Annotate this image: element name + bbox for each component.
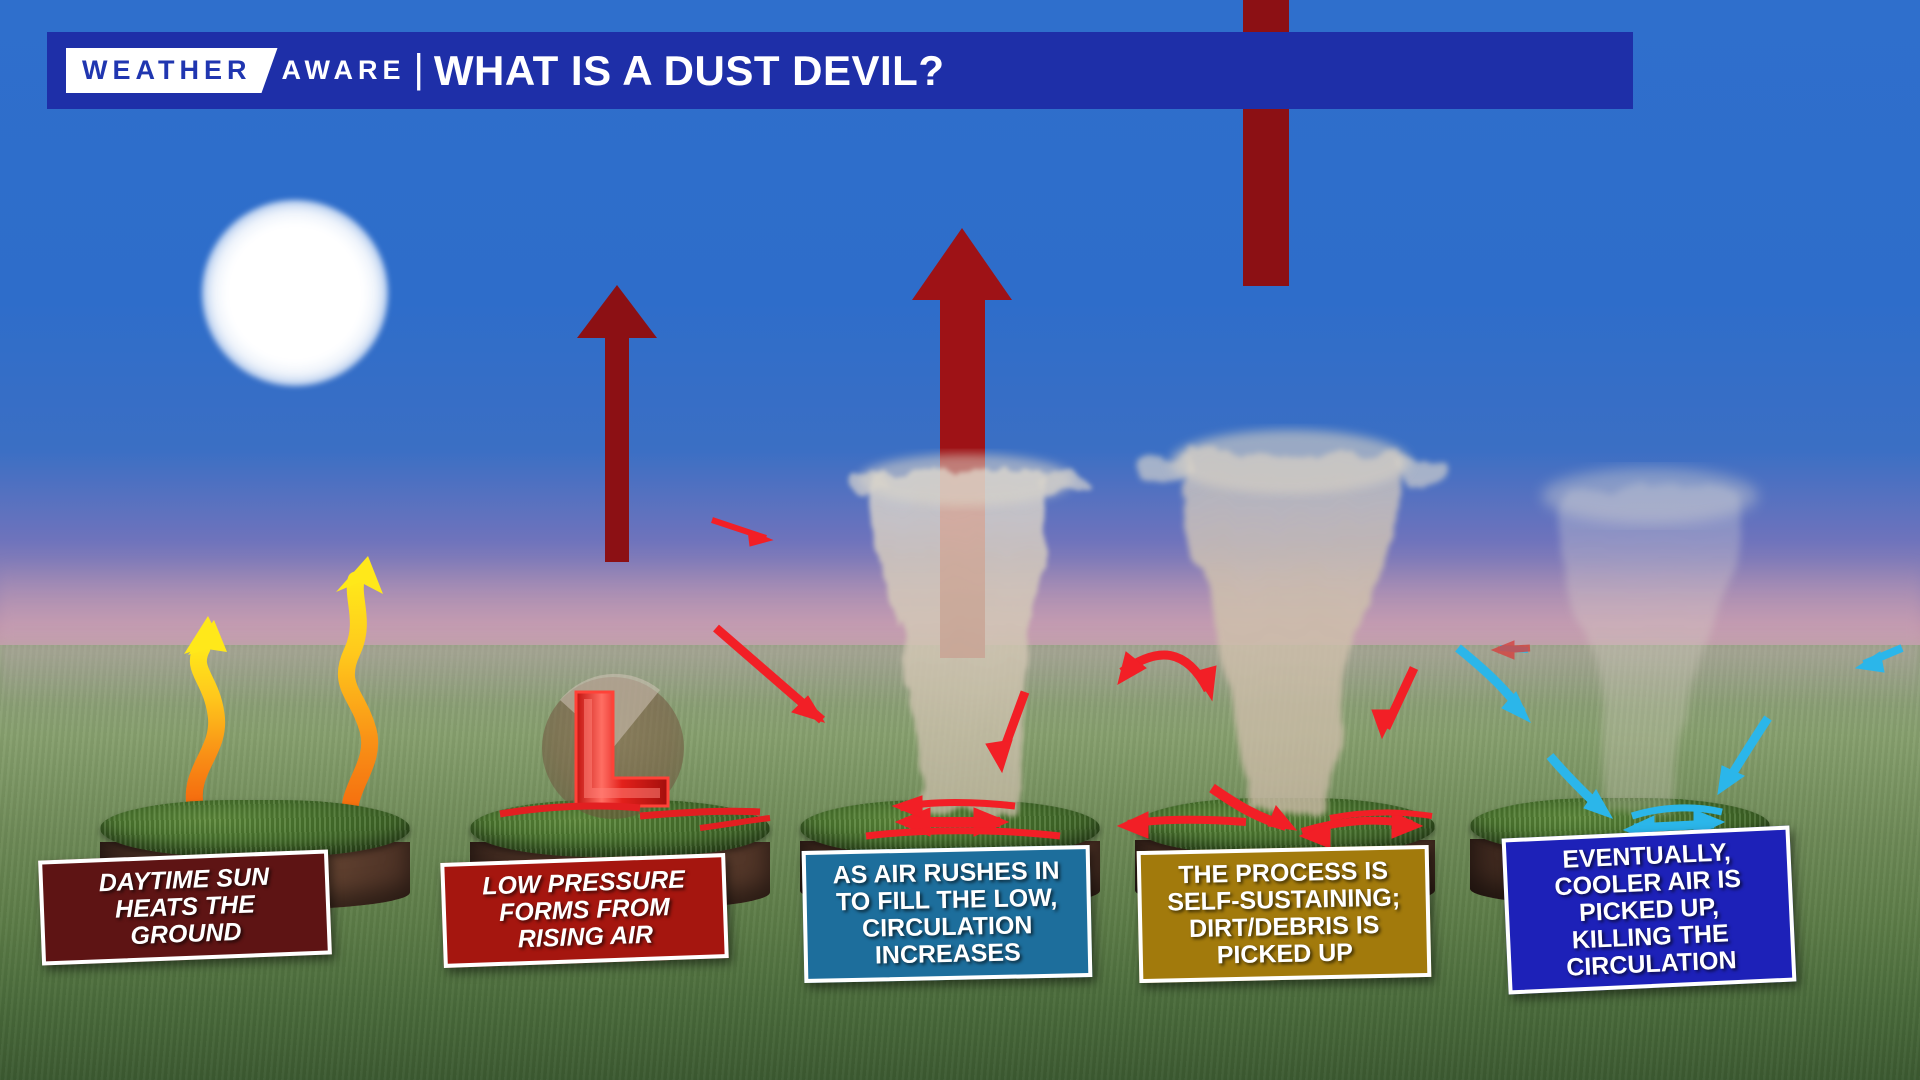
logo-weather-text: WEATHER	[66, 48, 278, 93]
caption-text: DAYTIME SUN HEATS THE GROUND	[98, 864, 271, 951]
sun-icon	[202, 200, 388, 386]
caption-step-5: EVENTUALLY, COOLER AIR IS PICKED UP, KIL…	[1502, 826, 1797, 995]
caption-text: LOW PRESSURE FORMS FROM RISING AIR	[482, 866, 688, 954]
title-banner: WEATHER AWARE | WHAT IS A DUST DEVIL?	[47, 32, 1633, 109]
weather-aware-logo: WEATHER AWARE	[66, 48, 406, 93]
logo-aware-text: AWARE	[278, 48, 406, 93]
title-separator: |	[414, 49, 424, 93]
caption-step-3: AS AIR RUSHES IN TO FILL THE LOW, CIRCUL…	[802, 845, 1093, 983]
infographic-canvas: DAYTIME SUN HEATS THE GROUND LOW PRESSUR…	[0, 0, 1920, 1080]
caption-step-1: DAYTIME SUN HEATS THE GROUND	[38, 849, 332, 965]
caption-text: EVENTUALLY, COOLER AIR IS PICKED UP, KIL…	[1553, 838, 1746, 981]
page-title: WHAT IS A DUST DEVIL?	[434, 47, 945, 95]
pedestal-grass	[100, 800, 410, 857]
caption-text: AS AIR RUSHES IN TO FILL THE LOW, CIRCUL…	[832, 858, 1061, 971]
caption-step-4: THE PROCESS IS SELF-SUSTAINING; DIRT/DEB…	[1137, 845, 1432, 983]
caption-step-2: LOW PRESSURE FORMS FROM RISING AIR	[440, 853, 728, 968]
caption-text: THE PROCESS IS SELF-SUSTAINING; DIRT/DEB…	[1166, 858, 1401, 971]
pedestal-grass	[470, 800, 770, 857]
ground-horizon-blur	[0, 645, 1920, 705]
